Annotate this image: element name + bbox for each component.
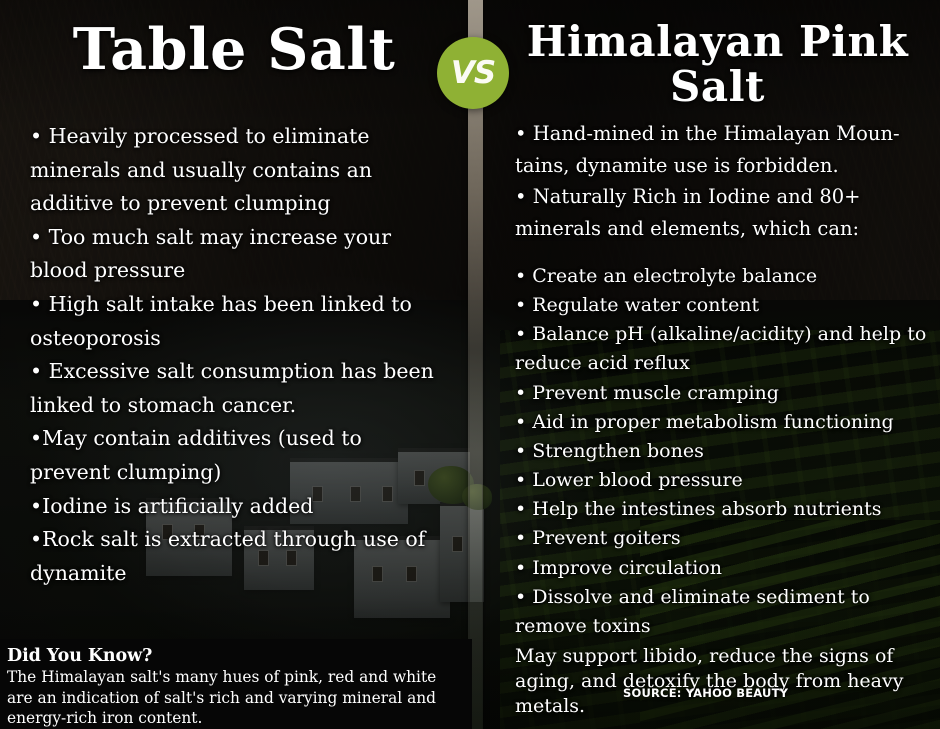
list-item: • Create an electrolyte balance [515, 262, 928, 291]
list-item: • Prevent goiters [515, 524, 928, 553]
list-item: • Aid in proper metabolism functioning [515, 408, 928, 437]
vs-badge: VS [437, 37, 509, 109]
left-column-title: Table Salt [0, 21, 468, 78]
did-you-know-title: Did You Know? [7, 646, 464, 666]
list-item: • Prevent muscle cramping [515, 379, 928, 408]
table-salt-bullet-list: • Heavily processed to eliminate mineral… [30, 120, 444, 591]
did-you-know-body: The Himalayan salt's many hues of pink, … [7, 667, 464, 729]
list-item: • Heavily processed to eliminate mineral… [30, 120, 444, 221]
list-item: • Lower blood pressure [515, 466, 928, 495]
salt-comparison-infographic: Table Salt • Heavily processed to elimin… [0, 0, 940, 729]
list-item: • Regulate water content [515, 291, 928, 320]
list-item: • Help the intestines absorb nutrients [515, 495, 928, 524]
list-item: • Hand-mined in the Himalayan Moun-tains… [515, 118, 926, 181]
list-item: • Improve circulation [515, 554, 928, 583]
list-item: •May contain additives (used to prevent … [30, 422, 444, 489]
list-item: • Strengthen bones [515, 437, 928, 466]
list-item: • Excessive salt consumption has been li… [30, 355, 444, 422]
source-credit: SOURCE: YAHOO BEAUTY [623, 686, 788, 700]
himalayan-salt-benefits-list: • Create an electrolyte balance • Regula… [515, 262, 928, 641]
list-item: •Iodine is artificially added [30, 490, 444, 524]
himalayan-salt-column: Himalayan Pink Salt • Hand-mined in the … [483, 0, 940, 729]
list-item: • Dissolve and eliminate sediment to rem… [515, 583, 928, 641]
list-item: • High salt intake has been linked to os… [30, 288, 444, 355]
list-item: • Too much salt may increase your blood … [30, 221, 444, 288]
right-column-title: Himalayan Pink Salt [505, 20, 930, 109]
list-item: • Balance pH (alkaline/acidity) and help… [515, 320, 928, 378]
closing-statement: May support libido, reduce the signs of … [515, 644, 920, 719]
himalayan-salt-intro-list: • Hand-mined in the Himalayan Moun-tains… [515, 118, 926, 244]
vs-badge-label: VS [451, 58, 495, 89]
did-you-know-panel: Did You Know? The Himalayan salt's many … [0, 639, 472, 729]
list-item: • Naturally Rich in Iodine and 80+ miner… [515, 181, 926, 244]
list-item: •Rock salt is extracted through use of d… [30, 523, 444, 590]
table-salt-column: Table Salt • Heavily processed to elimin… [0, 0, 468, 729]
